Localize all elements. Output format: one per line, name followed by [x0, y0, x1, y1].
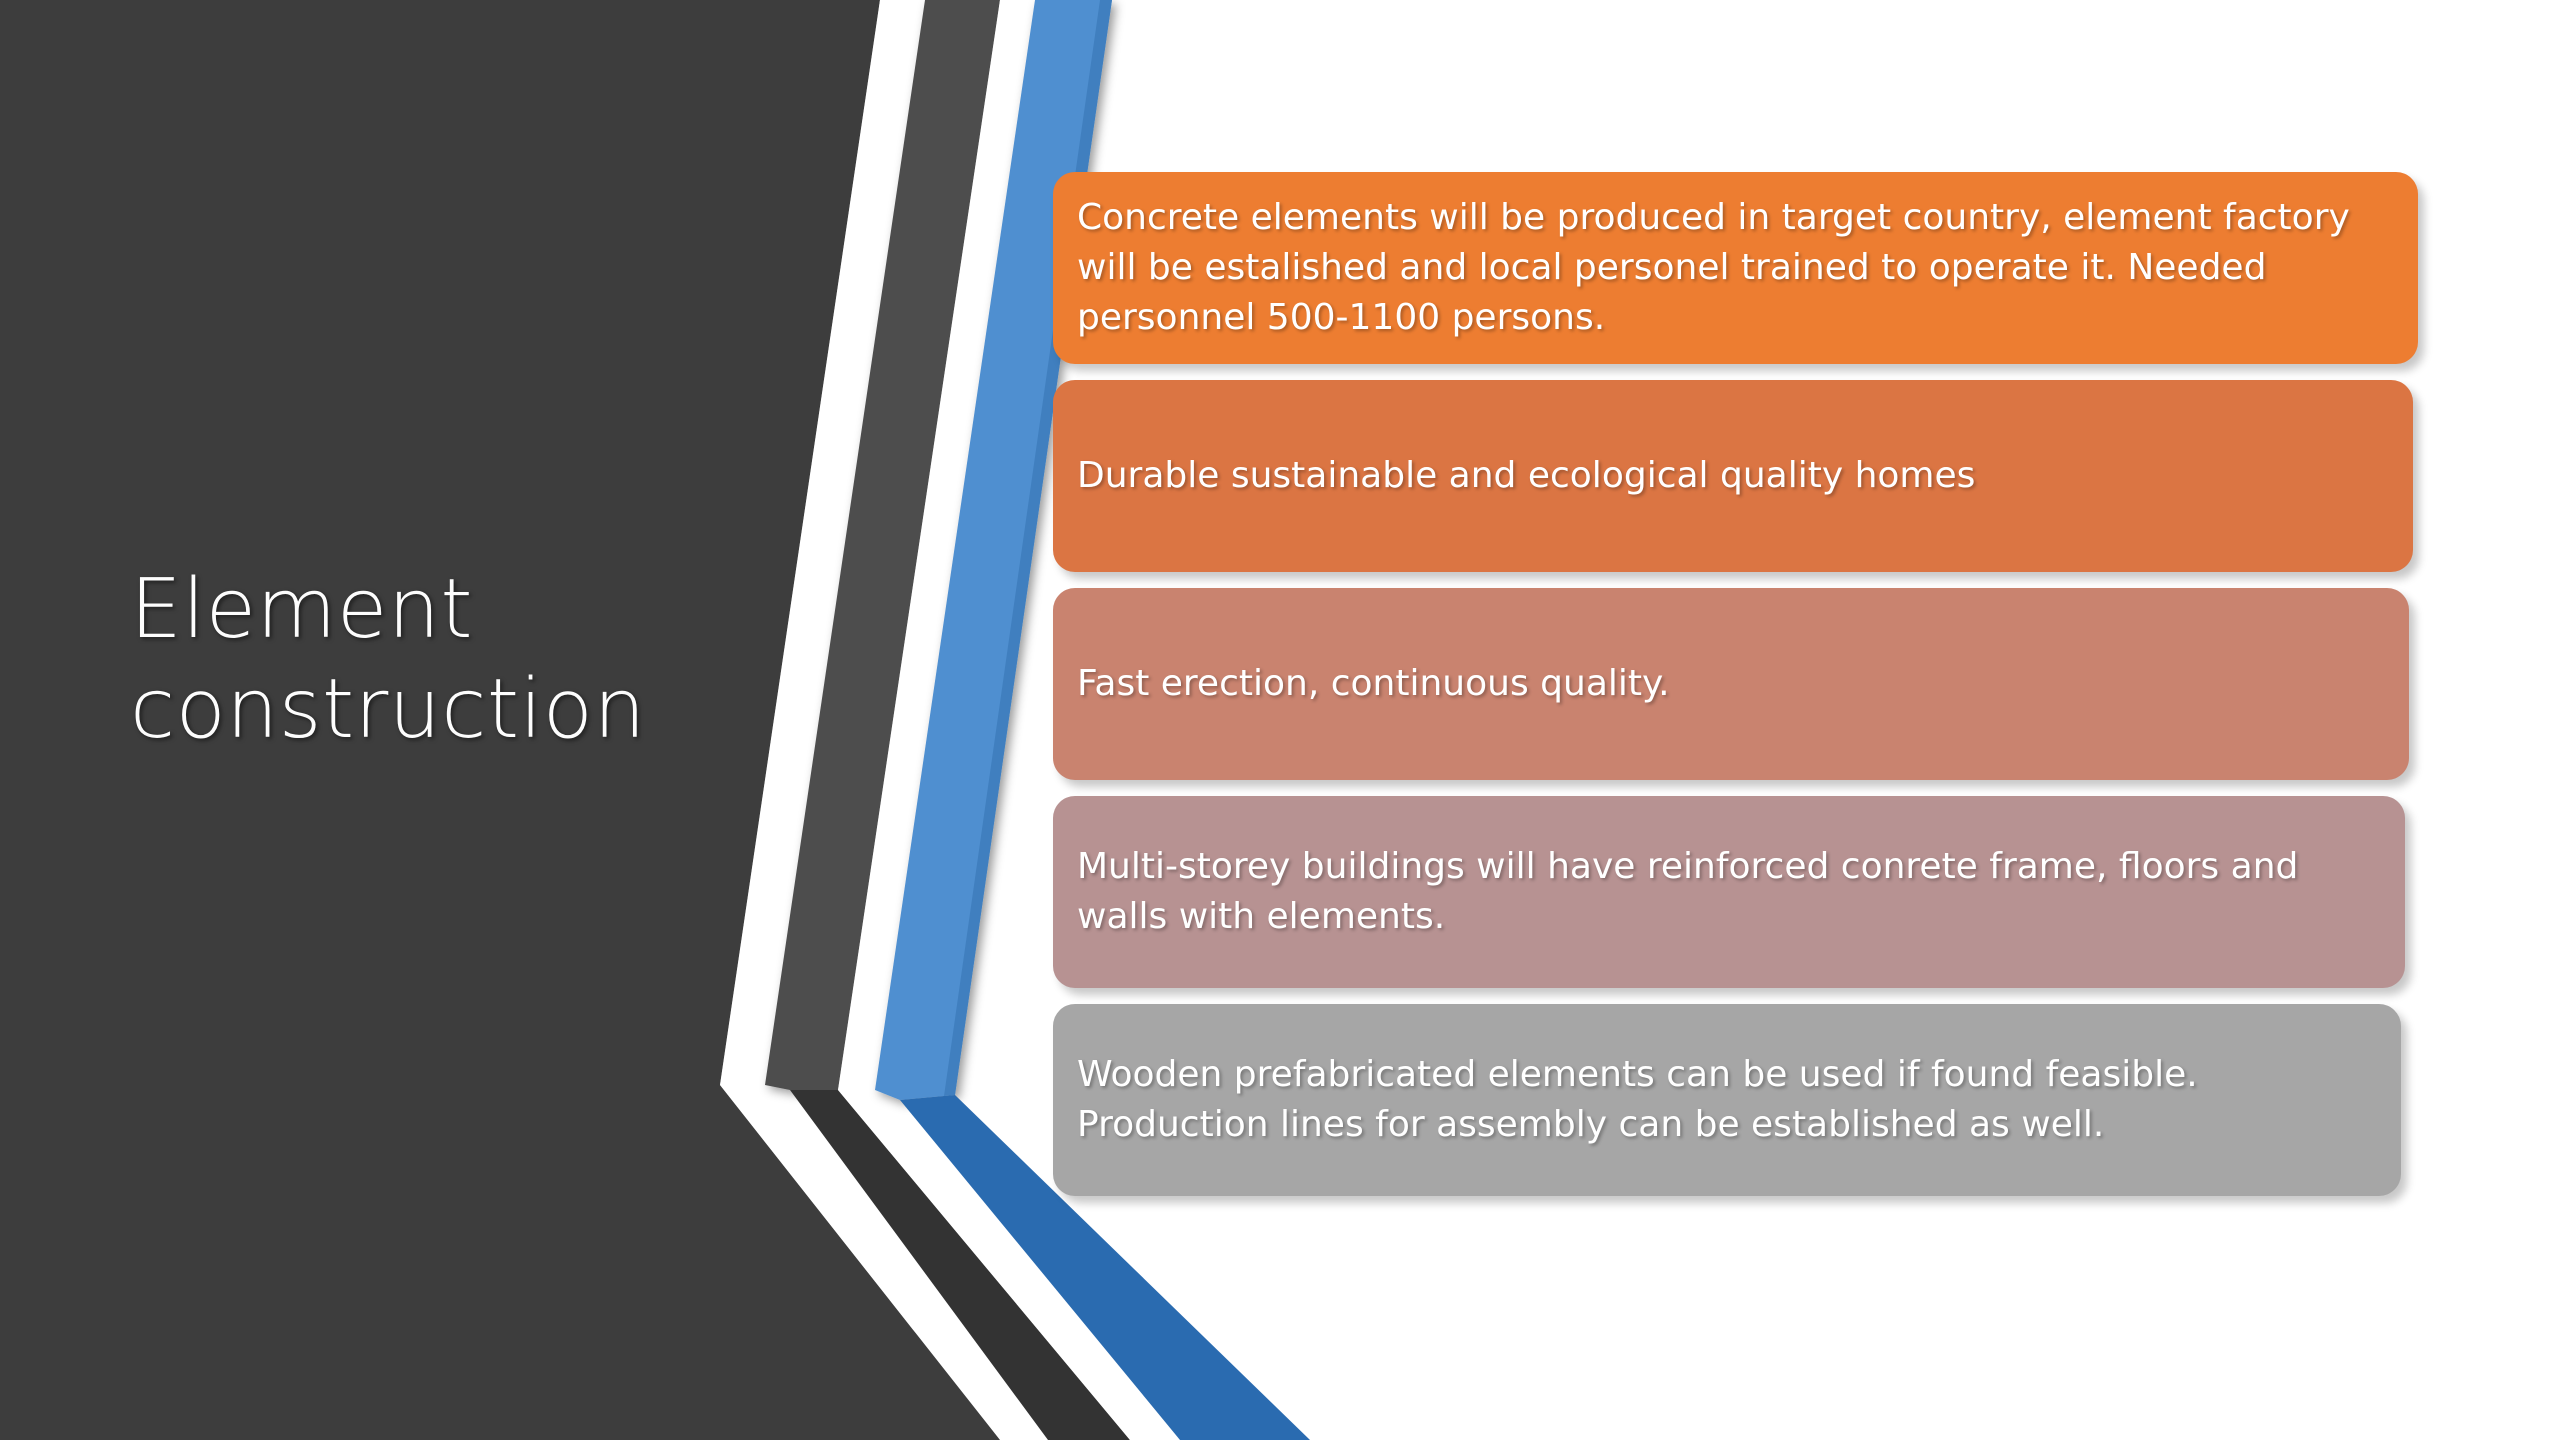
content-box-text: Durable sustainable and ecological quali…: [1077, 451, 1975, 501]
presentation-slide: Element construction Concrete elements w…: [0, 0, 2560, 1440]
content-box-text: Wooden prefabricated elements can be use…: [1077, 1050, 2377, 1149]
content-box-text: Fast erection, continuous quality.: [1077, 659, 1670, 709]
content-box-multi-storey[interactable]: Multi-storey buildings will have reinfor…: [1053, 796, 2405, 988]
title-line-2: construction: [130, 660, 750, 760]
page-title: Element construction: [130, 560, 750, 760]
content-box-text: Multi-storey buildings will have reinfor…: [1077, 842, 2381, 941]
content-box-wooden-prefab[interactable]: Wooden prefabricated elements can be use…: [1053, 1004, 2401, 1196]
white-gap-band-1: [720, 0, 1048, 1440]
content-box-fast-erection[interactable]: Fast erection, continuous quality.: [1053, 588, 2409, 780]
dark-panel-shadow-band: [660, 1130, 1030, 1440]
title-line-1: Element: [130, 560, 750, 660]
content-box-text: Concrete elements will be produced in ta…: [1077, 193, 2394, 342]
medium-gray-band: [765, 0, 1000, 1090]
content-box-durable-homes[interactable]: Durable sustainable and ecological quali…: [1053, 380, 2413, 572]
content-box-concrete-elements[interactable]: Concrete elements will be produced in ta…: [1053, 172, 2418, 364]
